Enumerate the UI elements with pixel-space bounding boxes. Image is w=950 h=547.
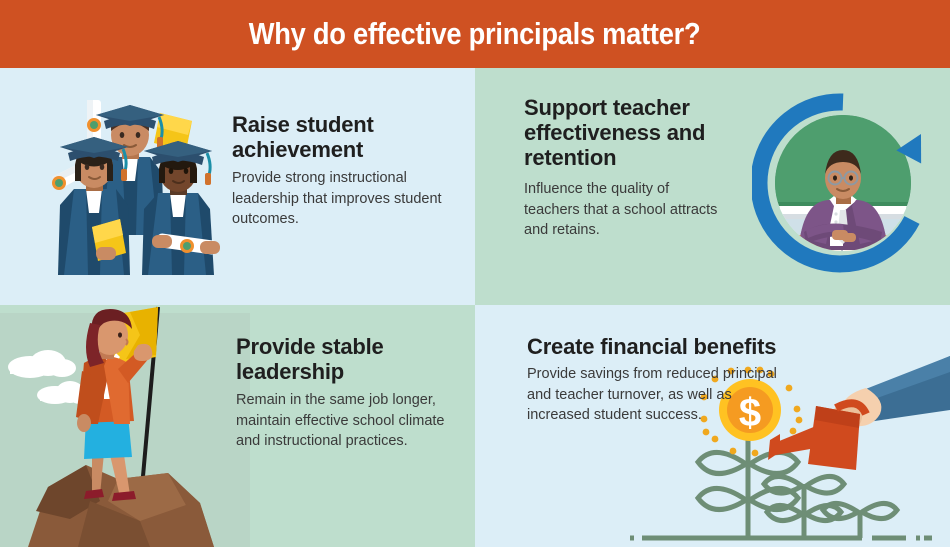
body-raise-student-achievement: Provide strong instructional leadership … [232, 168, 447, 230]
text-block-support-teacher-effectiveness: Support teacher effectiveness and retent… [524, 95, 724, 241]
body-create-financial-benefits: Provide savings from reduced principal a… [527, 364, 792, 426]
text-block-raise-student-achievement: Raise student achievement Provide strong… [232, 112, 447, 230]
page-title: Why do effective principals matter? [249, 16, 701, 52]
text-block-provide-stable-leadership: Provide stable leadership Remain in the … [236, 334, 468, 452]
teacher-retention-cycle-illustration [752, 92, 934, 274]
heading-support-teacher-effectiveness: Support teacher effectiveness and retent… [524, 95, 724, 170]
infographic-root: Why do effective principals matter? [0, 0, 950, 547]
heading-raise-student-achievement: Raise student achievement [232, 112, 447, 162]
heading-provide-stable-leadership: Provide stable leadership [236, 334, 468, 384]
header-banner: Why do effective principals matter? [0, 0, 950, 68]
heading-create-financial-benefits: Create financial benefits [527, 334, 792, 359]
leader-with-flag-on-mountain-illustration [0, 305, 250, 547]
text-block-create-financial-benefits: Create financial benefits Provide saving… [527, 334, 792, 426]
body-provide-stable-leadership: Remain in the same job longer, maintain … [236, 390, 468, 452]
body-support-teacher-effectiveness: Influence the quality of teachers that a… [524, 179, 724, 241]
graduating-students-illustration [40, 85, 230, 275]
